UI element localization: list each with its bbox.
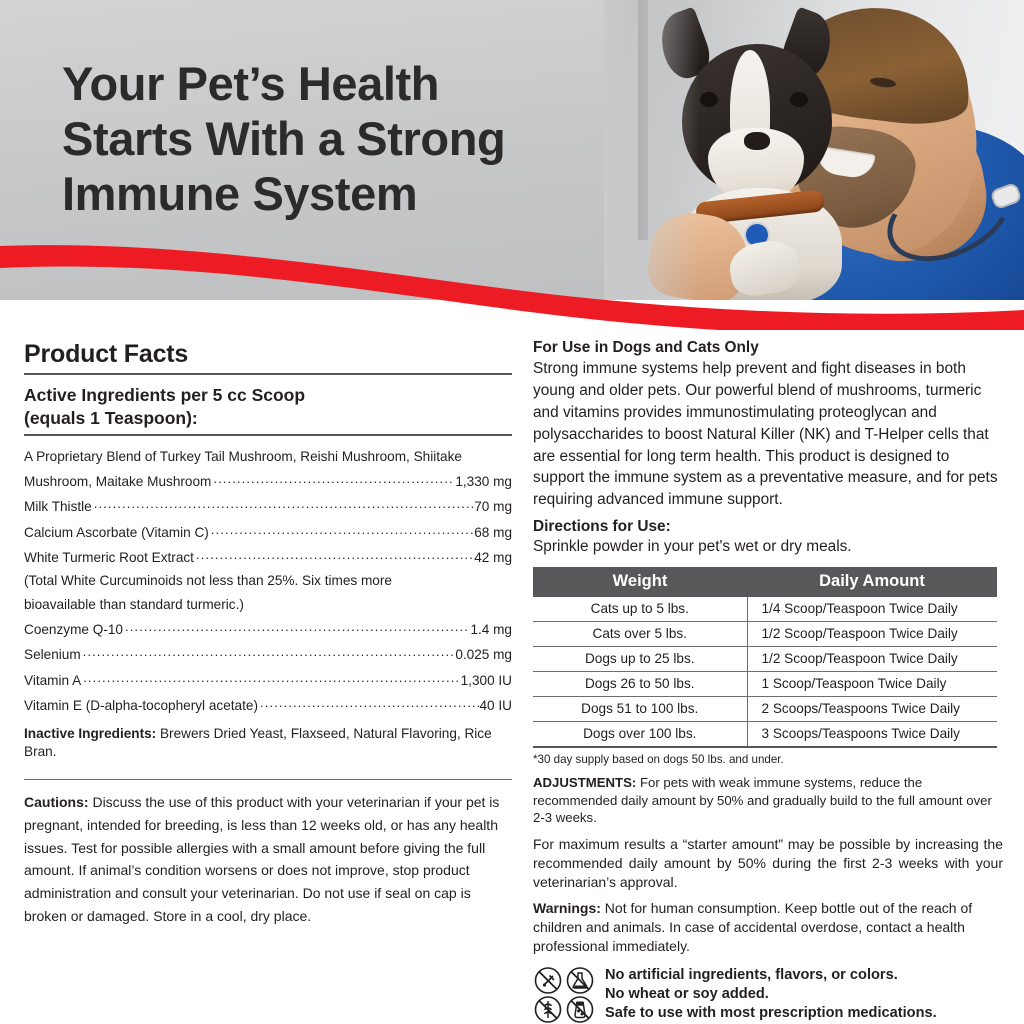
leader-dots: ........................................… <box>83 667 459 689</box>
cell-daily-amount: 1/4 Scoop/Teaspoon Twice Daily <box>747 597 997 622</box>
ingredient-row: Vitamin A ..............................… <box>24 667 512 692</box>
page-title: Your Pet’s Health Starts With a Strong I… <box>62 57 662 222</box>
cautions-block: Cautions: Discuss the use of this produc… <box>24 791 512 927</box>
leader-dots: ........................................… <box>260 692 479 714</box>
product-label: Your Pet’s Health Starts With a Strong I… <box>0 0 1024 982</box>
turmeric-note-line2: bioavailable than standard turmeric.) <box>24 593 512 616</box>
divider-under-active-heading <box>24 434 512 436</box>
cell-weight: Cats over 5 lbs. <box>533 622 747 647</box>
page-title-line-3: Immune System <box>62 167 417 220</box>
ingredient-row-blend: A Proprietary Blend of Turkey Tail Mushr… <box>24 445 512 494</box>
leader-dots: ........................................… <box>94 493 473 515</box>
ingredient-name: Milk Thistle <box>24 495 92 518</box>
dog-eye-left <box>700 92 718 107</box>
ingredient-name: Vitamin E (D-alpha-tocopheryl acetate) <box>24 694 258 717</box>
ingredient-name: Mushroom, Maitake Mushroom <box>24 470 211 493</box>
ingredient-amount: 1,330 mg <box>455 470 512 493</box>
ingredient-row: Coenzyme Q-10 ..........................… <box>24 616 512 641</box>
ingredient-amount: 40 IU <box>480 694 513 717</box>
adjustments-block: ADJUSTMENTS: For pets with weak immune s… <box>533 774 1003 827</box>
red-wave-divider <box>0 240 1024 330</box>
dog-nose <box>744 132 770 150</box>
leader-dots: ........................................… <box>213 468 454 490</box>
cell-weight: Dogs 51 to 100 lbs. <box>533 697 747 722</box>
dog-eye-right <box>790 92 808 107</box>
divider-above-cautions <box>24 779 512 780</box>
no-wheat-icon <box>533 995 565 1024</box>
ingredient-row: White Turmeric Root Extract ............… <box>24 544 512 569</box>
ingredient-amount: 1,300 IU <box>461 669 512 692</box>
adjustments-label: ADJUSTMENTS: <box>533 775 636 790</box>
ingredient-name: Vitamin A <box>24 669 81 692</box>
product-facts-title: Product Facts <box>24 340 512 369</box>
claims-block: No artificial ingredients, flavors, or c… <box>533 966 1003 1024</box>
active-ingredients-heading: Active Ingredients per 5 cc Scoop (equal… <box>24 384 512 431</box>
leader-dots: ........................................… <box>83 641 455 663</box>
ingredient-amount: 70 mg <box>474 495 512 518</box>
warnings-block: Warnings: Not for human consumption. Kee… <box>533 899 1003 957</box>
ingredient-amount: 68 mg <box>474 521 512 544</box>
cell-weight: Dogs up to 25 lbs. <box>533 647 747 672</box>
red-wave-shape <box>0 240 1024 330</box>
divider-under-title <box>24 373 512 375</box>
ingredient-name: Calcium Ascorbate (Vitamin C) <box>24 521 209 544</box>
ingredient-row-blend-line2: Mushroom, Maitake Mushroom .............… <box>24 468 512 493</box>
page-title-line-1: Your Pet’s Health <box>62 57 439 110</box>
table-row: Cats over 5 lbs. 1/2 Scoop/Teaspoon Twic… <box>533 622 997 647</box>
cautions-text: Discuss the use of this product with you… <box>24 794 499 923</box>
label-body: Product Facts Active Ingredients per 5 c… <box>0 330 1024 982</box>
max-results-text: For maximum results a “starter amount” m… <box>533 835 1003 893</box>
dosage-table-header-row: Weight Daily Amount <box>533 567 997 597</box>
table-row: Dogs over 100 lbs. 3 Scoops/Teaspoons Tw… <box>533 722 997 748</box>
claim-text-group: No artificial ingredients, flavors, or c… <box>605 966 937 1024</box>
leader-dots: ........................................… <box>125 616 469 638</box>
page-title-line-2: Starts With a Strong <box>62 112 505 165</box>
column-header-weight: Weight <box>533 567 747 597</box>
cautions-label: Cautions: <box>24 794 89 810</box>
ingredient-amount: 0.025 mg <box>455 643 512 666</box>
table-footnote: *30 day supply based on dogs 50 lbs. and… <box>533 752 1003 767</box>
warnings-label: Warnings: <box>533 900 601 916</box>
for-use-heading: For Use in Dogs and Cats Only <box>533 338 1003 358</box>
ingredient-row: Vitamin E (D-alpha-tocopheryl acetate) .… <box>24 692 512 717</box>
cell-weight: Cats up to 5 lbs. <box>533 597 747 622</box>
table-row: Cats up to 5 lbs. 1/4 Scoop/Teaspoon Twi… <box>533 597 997 622</box>
table-row: Dogs 51 to 100 lbs. 2 Scoops/Teaspoons T… <box>533 697 997 722</box>
usage-panel: For Use in Dogs and Cats Only Strong imm… <box>533 338 1003 1024</box>
cell-daily-amount: 3 Scoops/Teaspoons Twice Daily <box>747 722 997 748</box>
ingredient-row: Calcium Ascorbate (Vitamin C) ..........… <box>24 519 512 544</box>
claim-line-2: No wheat or soy added. <box>605 985 937 1004</box>
cell-daily-amount: 2 Scoops/Teaspoons Twice Daily <box>747 697 997 722</box>
ingredient-row: Milk Thistle ...........................… <box>24 493 512 518</box>
dosage-table: Weight Daily Amount Cats up to 5 lbs. 1/… <box>533 567 997 748</box>
directions-heading: Directions for Use: <box>533 518 1003 536</box>
leader-dots: ........................................… <box>196 544 473 566</box>
ingredient-name: Coenzyme Q-10 <box>24 618 123 641</box>
no-artificial-ingredients-icon <box>533 966 565 995</box>
claim-line-3: Safe to use with most prescription medic… <box>605 1004 937 1023</box>
ingredient-name-blend-line1: A Proprietary Blend of Turkey Tail Mushr… <box>24 445 512 468</box>
leader-dots: ........................................… <box>211 519 473 541</box>
table-row: Dogs 26 to 50 lbs. 1 Scoop/Teaspoon Twic… <box>533 672 997 697</box>
cell-daily-amount: 1/2 Scoop/Teaspoon Twice Daily <box>747 622 997 647</box>
active-heading-line-2: (equals 1 Teaspoon): <box>24 408 198 428</box>
column-header-daily-amount: Daily Amount <box>747 567 997 597</box>
inactive-ingredients: Inactive Ingredients: Brewers Dried Yeas… <box>24 725 512 762</box>
ingredient-name: Selenium <box>24 643 81 666</box>
ingredient-list: A Proprietary Blend of Turkey Tail Mushr… <box>24 445 512 718</box>
active-heading-line-1: Active Ingredients per 5 cc Scoop <box>24 385 305 405</box>
cell-weight: Dogs over 100 lbs. <box>533 722 747 748</box>
claim-icon-group <box>533 966 597 1024</box>
cell-daily-amount: 1/2 Scoop/Teaspoon Twice Daily <box>747 647 997 672</box>
inactive-ingredients-label: Inactive Ingredients: <box>24 726 156 741</box>
turmeric-note-line1: (Total White Curcuminoids not less than … <box>24 569 512 592</box>
for-use-body: Strong immune systems help prevent and f… <box>533 358 1003 511</box>
directions-body: Sprinkle powder in your pet's wet or dry… <box>533 536 1003 558</box>
product-facts-panel: Product Facts Active Ingredients per 5 c… <box>24 340 512 927</box>
ingredient-name: White Turmeric Root Extract <box>24 546 194 569</box>
ingredient-row: Selenium ...............................… <box>24 641 512 666</box>
table-row: Dogs up to 25 lbs. 1/2 Scoop/Teaspoon Tw… <box>533 647 997 672</box>
ingredient-amount: 1.4 mg <box>470 618 512 641</box>
cell-weight: Dogs 26 to 50 lbs. <box>533 672 747 697</box>
ingredient-amount: 42 mg <box>474 546 512 569</box>
no-drug-interaction-icon <box>565 995 597 1024</box>
cell-daily-amount: 1 Scoop/Teaspoon Twice Daily <box>747 672 997 697</box>
no-artificial-flavors-icon <box>565 966 597 995</box>
claim-line-1: No artificial ingredients, flavors, or c… <box>605 966 937 985</box>
